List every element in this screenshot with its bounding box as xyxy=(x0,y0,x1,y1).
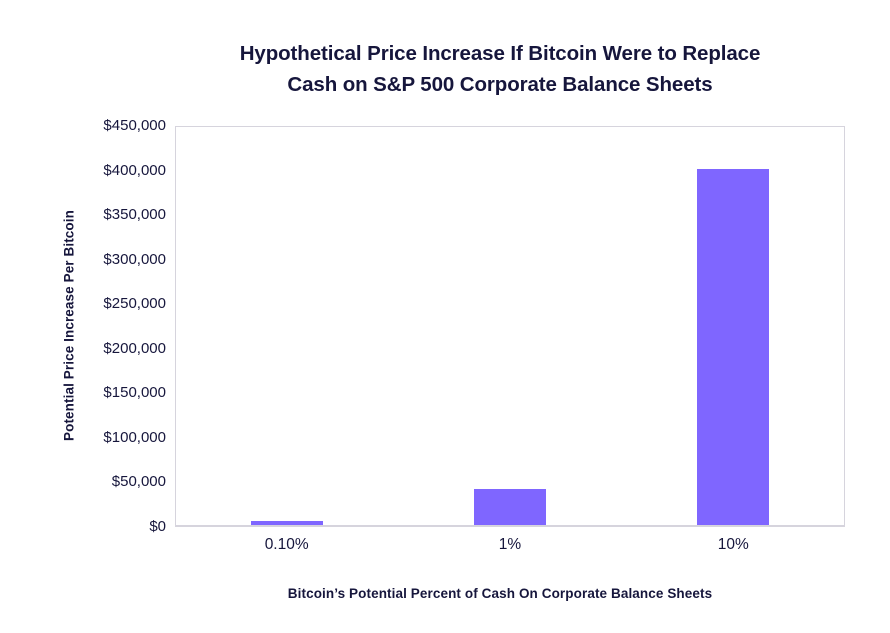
x-axis-tick-label: 1% xyxy=(398,536,621,554)
bar[interactable] xyxy=(251,521,323,525)
bar[interactable] xyxy=(474,489,546,525)
x-axis-tick-labels: 0.10%1%10% xyxy=(175,536,845,554)
x-axis-tick-label: 0.10% xyxy=(175,536,398,554)
bar-slot xyxy=(176,127,399,525)
x-axis-title: Bitcoin’s Potential Percent of Cash On C… xyxy=(120,586,880,601)
x-axis-tick-label: 10% xyxy=(622,536,845,554)
y-axis-tick-label: $350,000 xyxy=(58,207,166,223)
chart-title: Hypothetical Price Increase If Bitcoin W… xyxy=(120,38,880,100)
bar[interactable] xyxy=(697,169,769,525)
bar-slot xyxy=(621,127,844,525)
plot-area xyxy=(175,126,845,527)
chart-title-line-1: Hypothetical Price Increase If Bitcoin W… xyxy=(120,38,880,69)
y-axis-tick-label: $450,000 xyxy=(58,118,166,134)
chart-title-line-2: Cash on S&P 500 Corporate Balance Sheets xyxy=(120,69,880,100)
y-axis-tick-label: $250,000 xyxy=(58,296,166,312)
chart-figure: Hypothetical Price Increase If Bitcoin W… xyxy=(0,0,890,633)
y-axis-tick-label: $200,000 xyxy=(58,341,166,357)
y-axis-tick-label: $300,000 xyxy=(58,252,166,268)
y-axis-tick-label: $150,000 xyxy=(58,385,166,401)
y-axis-tick-label: $50,000 xyxy=(58,474,166,490)
bar-series xyxy=(176,127,844,525)
y-axis-tick-labels: $0$50,000$100,000$150,000$200,000$250,00… xyxy=(58,126,166,527)
y-axis-tick-label: $0 xyxy=(58,519,166,535)
y-axis-tick-label: $100,000 xyxy=(58,430,166,446)
bar-slot xyxy=(399,127,622,525)
y-axis-tick-label: $400,000 xyxy=(58,163,166,179)
